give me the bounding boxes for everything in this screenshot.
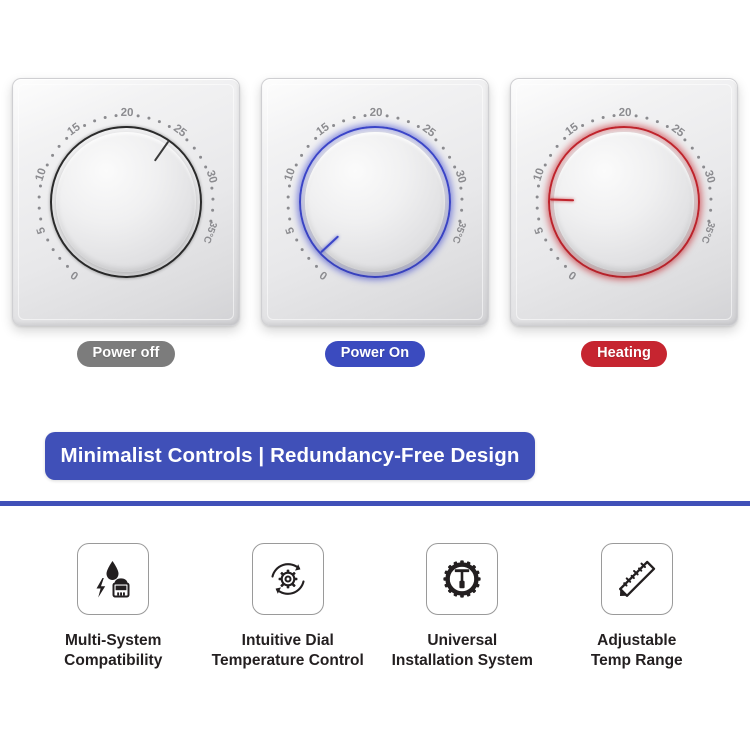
- svg-text:5: 5: [533, 225, 547, 235]
- svg-text:35°C: 35°C: [699, 220, 717, 245]
- svg-text:10: 10: [34, 167, 49, 183]
- product-showcase-row: 05101520253035°C 05101520253035°C: [0, 78, 750, 333]
- status-badge-row: Power off Power On Heating: [0, 341, 750, 367]
- svg-text:35°C: 35°C: [201, 220, 219, 245]
- product-card-power-off: 05101520253035°C: [8, 78, 244, 330]
- gear-hammer-install-icon: [439, 556, 485, 602]
- thermostat-faceplate: 05101520253035°C: [12, 78, 240, 326]
- feature-label: Adjustable Temp Range: [591, 631, 683, 672]
- svg-text:15: 15: [563, 121, 581, 139]
- feature-label: Universal Installation System: [392, 631, 533, 672]
- feature-list: Multi-System Compatibility: [0, 543, 750, 672]
- svg-text:25: 25: [171, 122, 189, 140]
- status-badge-power-on: Power On: [325, 341, 425, 367]
- svg-text:15: 15: [314, 121, 332, 139]
- svg-text:30: 30: [453, 169, 468, 185]
- headline-banner: Minimalist Controls | Redundancy-Free De…: [45, 432, 535, 480]
- status-badge-power-off: Power off: [77, 341, 176, 367]
- rotating-gear-dial-icon: [265, 556, 311, 602]
- svg-text:20: 20: [121, 107, 134, 119]
- thermostat-dial[interactable]: 05101520253035°C: [521, 99, 727, 305]
- feature-icon-box: [77, 543, 149, 615]
- feature-icon-box: [426, 543, 498, 615]
- svg-text:35°C: 35°C: [450, 220, 468, 245]
- thermostat-dial[interactable]: 05101520253035°C: [23, 99, 229, 305]
- svg-text:20: 20: [619, 107, 632, 119]
- infographic-page: 05101520253035°C 05101520253035°C: [0, 0, 750, 750]
- svg-text:30: 30: [204, 169, 219, 185]
- svg-text:0: 0: [567, 268, 579, 282]
- status-cell-heating: Heating: [506, 341, 742, 367]
- svg-text:30: 30: [702, 169, 717, 185]
- svg-text:5: 5: [35, 225, 49, 235]
- feature-label: Intuitive Dial Temperature Control: [212, 631, 364, 672]
- svg-text:0: 0: [69, 268, 81, 282]
- status-cell-power-off: Power off: [8, 341, 244, 367]
- headline-banner-text: Minimalist Controls | Redundancy-Free De…: [61, 444, 520, 468]
- feature-icon-box: [601, 543, 673, 615]
- thermostat-dial[interactable]: 05101520253035°C: [272, 99, 478, 305]
- svg-text:5: 5: [284, 225, 298, 235]
- svg-text:20: 20: [370, 107, 383, 119]
- thermostat-faceplate: 05101520253035°C: [261, 78, 489, 326]
- product-card-power-on: 05101520253035°C: [257, 78, 493, 330]
- svg-text:25: 25: [420, 122, 438, 140]
- dial-knob[interactable]: [554, 132, 694, 272]
- ruler-pencil-icon: [614, 556, 660, 602]
- feature-label: Multi-System Compatibility: [64, 631, 162, 672]
- thermostat-faceplate: 05101520253035°C: [510, 78, 738, 326]
- svg-text:0: 0: [318, 268, 330, 282]
- feature-icon-box: [252, 543, 324, 615]
- status-badge-heating: Heating: [581, 341, 667, 367]
- product-card-heating: 05101520253035°C: [506, 78, 742, 330]
- droplet-bolt-boiler-icon: [90, 556, 136, 602]
- section-divider: [0, 501, 750, 506]
- svg-text:15: 15: [65, 121, 83, 139]
- status-cell-power-on: Power On: [257, 341, 493, 367]
- svg-text:10: 10: [283, 167, 298, 183]
- feature-item-universal-install: Universal Installation System: [378, 543, 546, 672]
- svg-text:25: 25: [669, 122, 687, 140]
- feature-item-intuitive-dial: Intuitive Dial Temperature Control: [204, 543, 372, 672]
- feature-item-multi-system: Multi-System Compatibility: [29, 543, 197, 672]
- svg-text:10: 10: [532, 167, 547, 183]
- feature-item-adjustable-range: Adjustable Temp Range: [553, 543, 721, 672]
